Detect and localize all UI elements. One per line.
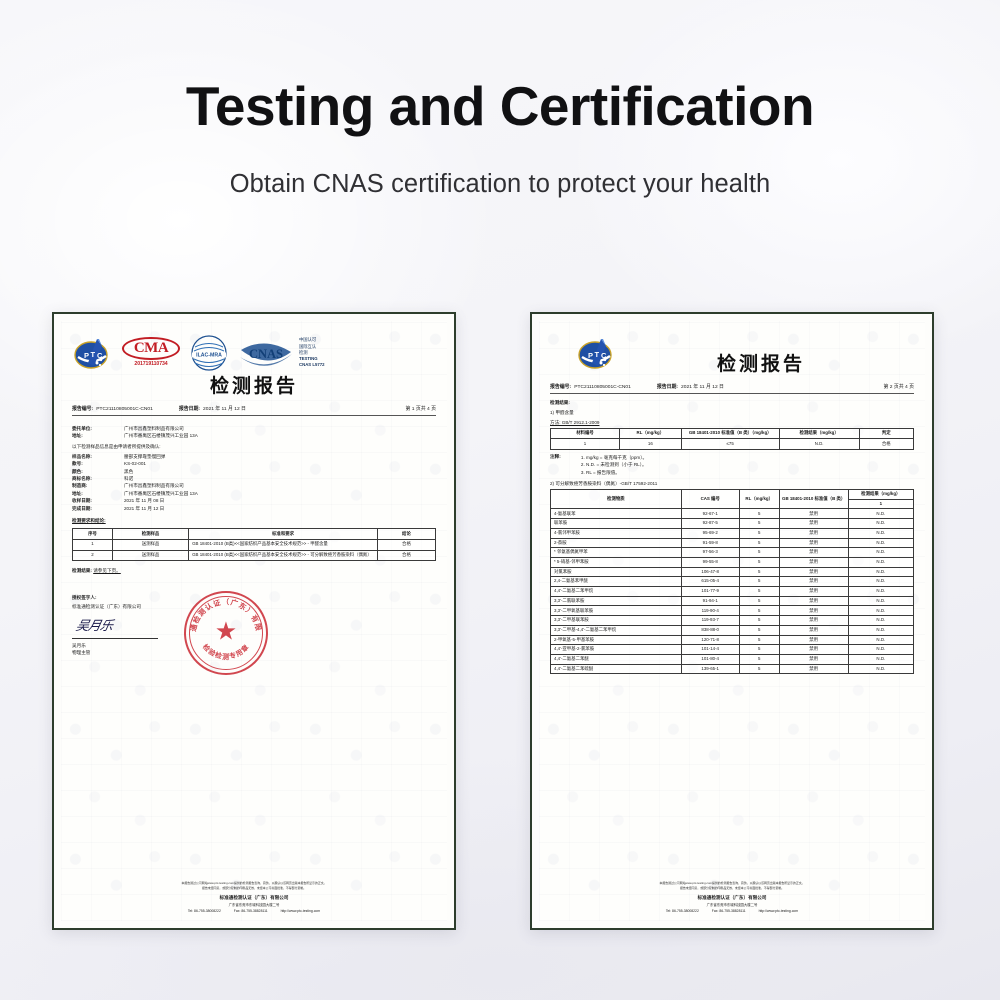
cell-limit: 禁用 bbox=[779, 606, 848, 616]
stamp-star-icon: ★ bbox=[215, 620, 237, 645]
cell-rl: 5 bbox=[739, 625, 779, 635]
footer-web[interactable]: http://www.ptc-testing.com bbox=[281, 909, 321, 913]
results-heading: 检测结果: bbox=[550, 400, 914, 407]
report-meta-row: 报告编号: PTC21110805001C-CN01 报告日期: 2021 年 … bbox=[72, 406, 436, 416]
cell-result: N.D. bbox=[848, 664, 913, 674]
col-conclusion: 结论 bbox=[377, 529, 435, 540]
result-label: 检测结果: bbox=[72, 568, 92, 573]
table-row: 4,4'-亚甲基-2-氯苯胺101-14-45禁用N.D. bbox=[551, 645, 914, 655]
field-address-key: 地址: bbox=[72, 432, 124, 439]
field-address-value: 广州市番禺区石楼镇茂兴工业园 13A bbox=[124, 432, 436, 439]
table-header-row: 检测物质 CAS 编号 RL（mg/kg） GB 18401-2010 标准值（… bbox=[551, 490, 914, 500]
cell-cas: 101-80-4 bbox=[681, 655, 739, 665]
cell-no: 2 bbox=[73, 550, 113, 561]
cma-mark: CMA bbox=[122, 337, 180, 361]
cell-rl: 5 bbox=[739, 616, 779, 626]
cell-result: N.D. bbox=[848, 548, 913, 558]
field-address: 地址: 广州市番禺区石楼镇茂兴工业园 13A bbox=[72, 432, 436, 439]
footer-address: 广东省东莞市东城科技园大楼二号 bbox=[61, 903, 447, 909]
cell-substance: 3,3'-二甲氧基联苯胺 bbox=[551, 606, 682, 616]
table-row: 2-甲氧基-5-甲基苯胺120-71-85禁用N.D. bbox=[551, 635, 914, 645]
cell-cas: 92-67-1 bbox=[681, 509, 739, 519]
cell-cas: 99-55-8 bbox=[681, 557, 739, 567]
cell-result: N.D. bbox=[848, 635, 913, 645]
signature-block: 授权签字人: 标准通检测认证（广东）有限公司 吴月乐 吴月乐 物理主管 标准通检… bbox=[72, 595, 436, 715]
col-sample-index: 1 bbox=[848, 499, 913, 509]
col-no: 序号 bbox=[73, 529, 113, 540]
cell-rl: 5 bbox=[739, 538, 779, 548]
field-sample-name: 样品名称: 腰部支撑靠垫慢回弹 bbox=[72, 453, 436, 460]
cell-limit: 禁用 bbox=[779, 616, 848, 626]
official-red-stamp: 标准通检测认证（广东）有限公司 ★ 检验检测专用章 bbox=[184, 591, 268, 675]
cell-limit: 禁用 bbox=[779, 664, 848, 674]
table-row: * 5-硝基-邻甲苯胺99-55-85禁用N.D. bbox=[551, 557, 914, 567]
cell-limit: 禁用 bbox=[779, 519, 848, 529]
table-header-row: 序号 检测样品 标准和要求 结论 bbox=[73, 529, 436, 540]
cell-result: N.D. bbox=[848, 645, 913, 655]
cma-number: 201719110734 bbox=[122, 361, 180, 369]
field-color: 颜色: 黑色 bbox=[72, 468, 436, 475]
document-title: 检测报告 bbox=[72, 372, 436, 401]
certificate-page-2[interactable]: P T C 检测报告 报告编号: PTC21110805001C-CN01 报告… bbox=[530, 312, 934, 930]
cell-result: N.D. bbox=[848, 606, 913, 616]
cell-conclusion: 合格 bbox=[377, 550, 435, 561]
confirmation-note: 以下检测样品信息是由申请者所提供及确认: bbox=[72, 444, 436, 451]
cell-result: N.D. bbox=[848, 616, 913, 626]
col-judgement: 判定 bbox=[859, 428, 913, 439]
cell-substance: 4,4'-二氨基二苯甲烷 bbox=[551, 587, 682, 597]
section1-method: 方法: GB/T 2912.1-2009 bbox=[550, 420, 914, 427]
field-client-key: 委托单位: bbox=[72, 425, 124, 432]
cell-limit: 禁用 bbox=[779, 635, 848, 645]
table-row: 3,3'-二甲基-4,4'-二氨基二苯甲烷838-88-05禁用N.D. bbox=[551, 625, 914, 635]
cell-limit: 禁用 bbox=[779, 625, 848, 635]
cell-rl: 5 bbox=[739, 596, 779, 606]
field-mfr-address: 地址: 广州市番禺区石楼镇茂兴工业园 13A bbox=[72, 490, 436, 497]
cell-rl: 5 bbox=[739, 664, 779, 674]
azo-dye-table: 检测物质 CAS 编号 RL（mg/kg） GB 18401-2010 标准值（… bbox=[550, 489, 914, 674]
cell-cas: 101-14-4 bbox=[681, 645, 739, 655]
requirements-table: 序号 检测样品 标准和要求 结论 1 送测样品 GB 18401-2010 (B… bbox=[72, 528, 436, 561]
cell-result: N.D. bbox=[848, 655, 913, 665]
col-rl: RL（mg/kg） bbox=[619, 428, 681, 439]
report-no-label: 报告编号: bbox=[72, 406, 93, 413]
table-row: 3,3'-二甲氧基联苯胺119-90-45禁用N.D. bbox=[551, 606, 914, 616]
report-no-label: 报告编号: bbox=[550, 384, 571, 391]
cell-limit: 禁用 bbox=[779, 596, 848, 606]
table-row: 3,3'-二甲基联苯胺119-93-75禁用N.D. bbox=[551, 616, 914, 626]
cma-logo: CMA 201719110734 bbox=[122, 337, 180, 369]
col-standard: 标准和要求 bbox=[189, 529, 378, 540]
cell-substance: 4-氨基联苯 bbox=[551, 509, 682, 519]
col-sample: 检测样品 bbox=[112, 529, 188, 540]
cell-substance: 联苯胺 bbox=[551, 519, 682, 529]
cell-limit: 禁用 bbox=[779, 548, 848, 558]
cell-limit: 禁用 bbox=[779, 655, 848, 665]
svg-text:T: T bbox=[595, 350, 600, 359]
document-title: 检测报告 bbox=[608, 350, 914, 379]
requirements-heading: 检测要求和结论: bbox=[72, 518, 436, 525]
result-summary: 检测结果: 请参见下页。 bbox=[72, 568, 436, 575]
cell-result: N.D. bbox=[848, 567, 913, 577]
cell-rl: 5 bbox=[739, 519, 779, 529]
report-no-value: PTC21110805001C-CN01 bbox=[96, 406, 153, 413]
cell-cas: 101-77-9 bbox=[681, 587, 739, 597]
cell-result: N.D. bbox=[848, 528, 913, 538]
svg-text:C: C bbox=[601, 351, 607, 360]
cell-material-no: 1 bbox=[551, 439, 620, 450]
cell-result: N.D. bbox=[848, 557, 913, 567]
page-subtitle: Obtain CNAS certification to protect you… bbox=[0, 170, 1000, 199]
page-number-label: 第 2 页共 4 页 bbox=[884, 384, 914, 391]
svg-text:C: C bbox=[97, 351, 103, 360]
section2-title: 2) 可分解致癌芳香胺染料（偶氮）-GB/T 17592-2011 bbox=[550, 481, 914, 488]
cell-substance: * 邻氨基偶氮甲苯 bbox=[551, 548, 682, 558]
cell-rl: 5 bbox=[739, 587, 779, 597]
footer-web[interactable]: http://www.ptc-testing.com bbox=[759, 909, 799, 913]
cell-substance: 对氯苯胺 bbox=[551, 567, 682, 577]
notes-block: 注释: mg/kg = 毫克每千克（ppm）。 N.D. = 未检测到（小于 R… bbox=[550, 454, 914, 476]
footer-disclaimer-2: 报告未经同意，或部分复制的印刷品无效，未经本公司书面批准，不得部分复制。 bbox=[539, 886, 925, 891]
page-title: Testing and Certification bbox=[0, 78, 1000, 136]
field-received-date: 收样日期: 2021 年 11 月 08 日 bbox=[72, 497, 436, 504]
svg-text:P: P bbox=[588, 351, 593, 360]
cell-cas: 119-93-7 bbox=[681, 616, 739, 626]
cell-no: 1 bbox=[73, 539, 113, 550]
notes-label: 注释: bbox=[550, 454, 576, 476]
table-row: 1 送测样品 GB 18401-2010 (B类)<<国家纺织产品基本安全技术规… bbox=[73, 539, 436, 550]
field-client-value: 广州市昌鑫塑料制品有限公司 bbox=[124, 425, 436, 432]
footer-contact: Tel: 86-755-38008222 Fax: 86-755-3882811… bbox=[539, 909, 925, 915]
cell-substance: 2-萘胺 bbox=[551, 538, 682, 548]
cell-rl: 5 bbox=[739, 655, 779, 665]
table-row: 3,3'-二氯联苯胺91-94-15禁用N.D. bbox=[551, 596, 914, 606]
footer-fax: Fax: 86-755-38828111 bbox=[234, 909, 268, 913]
cell-limit: 禁用 bbox=[779, 587, 848, 597]
report-meta-row: 报告编号: PTC21110805001C-CN01 报告日期: 2021 年 … bbox=[550, 384, 914, 394]
field-style-no: 款号: KS-02-001 bbox=[72, 460, 436, 467]
cell-rl: 5 bbox=[739, 577, 779, 587]
svg-text:检验检测专用章: 检验检测专用章 bbox=[201, 642, 251, 661]
note-item: mg/kg = 毫克每千克（ppm）。 bbox=[586, 454, 647, 461]
cell-substance: 3,3'-二氯联苯胺 bbox=[551, 596, 682, 606]
page-number-label: 第 1 页共 4 页 bbox=[406, 406, 436, 413]
hero-section: Testing and Certification Obtain CNAS ce… bbox=[0, 78, 1000, 199]
cnas-mark: CNAS bbox=[238, 336, 294, 370]
cell-limit: 禁用 bbox=[779, 577, 848, 587]
stamp-bottom-arc: 检验检测专用章 bbox=[186, 593, 266, 673]
cell-rl: 5 bbox=[739, 635, 779, 645]
field-brand: 商标名称: 科诺 bbox=[72, 475, 436, 482]
signature-rule bbox=[72, 638, 158, 639]
col-rl: RL（mg/kg） bbox=[739, 490, 779, 509]
table-row: 4-氯邻甲苯胺95-69-25禁用N.D. bbox=[551, 528, 914, 538]
footer-fax: Fax: 86-755-38828111 bbox=[712, 909, 746, 913]
field-manufacturer-value: 广州市昌鑫塑料制品有限公司 bbox=[124, 482, 436, 489]
cell-standard: GB 18401-2010 (B类)<<国家纺织产品基本安全技术规范>> - 可… bbox=[189, 550, 378, 561]
field-received-date-key: 收样日期: bbox=[72, 497, 124, 504]
table-row: 4,4'-二氨基二苯醚101-80-45禁用N.D. bbox=[551, 655, 914, 665]
table-row: 4,4'-二氨基二苯甲烷101-77-95禁用N.D. bbox=[551, 587, 914, 597]
table-row: 2,4-二氨基苯甲醚615-05-45禁用N.D. bbox=[551, 577, 914, 587]
cell-result: N.D. bbox=[848, 625, 913, 635]
cell-cas: 615-05-4 bbox=[681, 577, 739, 587]
cell-rl: 16 bbox=[619, 439, 681, 450]
cell-rl: 5 bbox=[739, 548, 779, 558]
field-received-date-value: 2021 年 11 月 08 日 bbox=[124, 497, 436, 504]
cell-result: N.D. bbox=[848, 587, 913, 597]
field-color-value: 黑色 bbox=[124, 468, 436, 475]
certificate-footer: 本报告通过公司网站www.ptc-testing.com提供的检测报告查询，真伪… bbox=[539, 881, 925, 915]
table-row: 1 16 ≤75 N.D. 合格 bbox=[551, 439, 914, 450]
footer-company: 标准通检测认证（广东）有限公司 bbox=[539, 894, 925, 902]
cell-cas: 120-71-8 bbox=[681, 635, 739, 645]
note-item: N.D. = 未检测到（小于 RL）。 bbox=[586, 461, 647, 468]
field-client: 委托单位: 广州市昌鑫塑料制品有限公司 bbox=[72, 425, 436, 432]
cell-result: N.D. bbox=[779, 439, 859, 450]
cell-cas: 139-65-1 bbox=[681, 664, 739, 674]
svg-text:T: T bbox=[91, 350, 96, 359]
field-completed-date: 完成日期: 2021 年 11 月 12 日 bbox=[72, 505, 436, 512]
cnas-line-4: CNAS L5772 bbox=[299, 362, 325, 367]
field-mfr-address-key: 地址: bbox=[72, 490, 124, 497]
accreditation-logo-row: P T C CMA 201719110734 bbox=[72, 330, 436, 376]
col-limit: GB 18401-2010 标准值（B 类）（mg/kg） bbox=[681, 428, 779, 439]
cell-limit: 禁用 bbox=[779, 567, 848, 577]
section1-title: 1) 甲醛含量 bbox=[550, 410, 914, 417]
cell-rl: 5 bbox=[739, 645, 779, 655]
field-color-key: 颜色: bbox=[72, 468, 124, 475]
footer-address: 广东省东莞市东城科技园大楼二号 bbox=[539, 903, 925, 909]
certificate-page-1[interactable]: P T C CMA 201719110734 bbox=[52, 312, 456, 930]
ptc-logo: P T C bbox=[72, 333, 112, 373]
field-sample-name-value: 腰部支撑靠垫慢回弹 bbox=[124, 453, 436, 460]
cell-conclusion: 合格 bbox=[377, 539, 435, 550]
svg-text:CNAS: CNAS bbox=[249, 347, 283, 361]
cell-result: N.D. bbox=[848, 577, 913, 587]
cell-limit: 禁用 bbox=[779, 528, 848, 538]
cell-rl: 5 bbox=[739, 557, 779, 567]
report-date-value: 2021 年 11 月 12 日 bbox=[203, 406, 246, 413]
cell-standard: GB 18401-2010 (B类)<<国家纺织产品基本安全技术规范>> - 甲… bbox=[189, 539, 378, 550]
field-manufacturer-key: 制造商: bbox=[72, 482, 124, 489]
certificates-container: P T C CMA 201719110734 bbox=[0, 312, 1000, 932]
cell-result: N.D. bbox=[848, 538, 913, 548]
cell-substance: 3,3'-二甲基-4,4'-二氨基二苯甲烷 bbox=[551, 625, 682, 635]
cell-cas: 92-87-5 bbox=[681, 519, 739, 529]
cell-cas: 91-59-8 bbox=[681, 538, 739, 548]
field-style-no-key: 款号: bbox=[72, 460, 124, 467]
table-row: 2 送测样品 GB 18401-2010 (B类)<<国家纺织产品基本安全技术规… bbox=[73, 550, 436, 561]
field-style-no-value: KS-02-001 bbox=[124, 460, 436, 467]
cnas-line-3: TESTING bbox=[299, 356, 318, 361]
cell-cas: 119-90-4 bbox=[681, 606, 739, 616]
cell-cas: 97-56-3 bbox=[681, 548, 739, 558]
cell-substance: 4,4'-二氨基二苯醚 bbox=[551, 655, 682, 665]
cell-limit: 禁用 bbox=[779, 509, 848, 519]
cell-result: N.D. bbox=[848, 596, 913, 606]
footer-contact: Tel: 86-755-38008222 Fax: 86-755-3882811… bbox=[61, 909, 447, 915]
field-brand-value: 科诺 bbox=[124, 475, 436, 482]
cell-cas: 95-69-2 bbox=[681, 528, 739, 538]
cell-sample: 送测样品 bbox=[112, 539, 188, 550]
cell-rl: 5 bbox=[739, 528, 779, 538]
field-completed-date-key: 完成日期: bbox=[72, 505, 124, 512]
certificate-footer: 本报告通过公司网站www.ptc-testing.com提供的检测报告查询，真伪… bbox=[61, 881, 447, 915]
cell-limit: 禁用 bbox=[779, 645, 848, 655]
table-header-row: 材料编号 RL（mg/kg） GB 18401-2010 标准值（B 类）（mg… bbox=[551, 428, 914, 439]
table-row: 对氯苯胺106-47-85禁用N.D. bbox=[551, 567, 914, 577]
col-cas: CAS 编号 bbox=[681, 490, 739, 509]
note-item: RL = 报告限值。 bbox=[586, 469, 647, 476]
cell-substance: 4-氯邻甲苯胺 bbox=[551, 528, 682, 538]
cell-judgement: 合格 bbox=[859, 439, 913, 450]
col-substance: 检测物质 bbox=[551, 490, 682, 509]
svg-text:ILAC-MRA: ILAC-MRA bbox=[196, 353, 222, 359]
footer-company: 标准通检测认证（广东）有限公司 bbox=[61, 894, 447, 902]
table-row: 4,4'-二氨基二苯硫醚139-65-15禁用N.D. bbox=[551, 664, 914, 674]
cell-substance: 4,4'-二氨基二苯硫醚 bbox=[551, 664, 682, 674]
ilac-mra-logo: ILAC-MRA bbox=[190, 334, 228, 372]
field-mfr-address-value: 广州市番禺区石楼镇茂兴工业园 13A bbox=[124, 490, 436, 497]
formaldehyde-table: 材料编号 RL（mg/kg） GB 18401-2010 标准值（B 类）（mg… bbox=[550, 428, 914, 451]
cell-substance: 2-甲氧基-5-甲基苯胺 bbox=[551, 635, 682, 645]
report-date-label: 报告日期: bbox=[179, 406, 200, 413]
svg-text:P: P bbox=[84, 351, 89, 360]
col-material-no: 材料编号 bbox=[551, 428, 620, 439]
table-row: 2-萘胺91-59-85禁用N.D. bbox=[551, 538, 914, 548]
footer-tel: Tel: 86-755-38008222 bbox=[666, 909, 699, 913]
field-sample-name-key: 样品名称: bbox=[72, 453, 124, 460]
cnas-text-block: 中国认可 国际互认 检测 TESTING CNAS L5772 bbox=[299, 337, 325, 368]
cell-substance: 2,4-二氨基苯甲醚 bbox=[551, 577, 682, 587]
cell-limit: ≤75 bbox=[681, 439, 779, 450]
cell-rl: 5 bbox=[739, 606, 779, 616]
cell-cas: 838-88-0 bbox=[681, 625, 739, 635]
report-no-value: PTC21110805001C-CN01 bbox=[574, 384, 631, 391]
azo-rows: 4-氨基联苯92-67-15禁用N.D. 联苯胺92-87-55禁用N.D. 4… bbox=[551, 509, 914, 674]
cell-substance: 4,4'-亚甲基-2-氯苯胺 bbox=[551, 645, 682, 655]
footer-disclaimer-2: 报告未经同意，或部分复制的印刷品无效，未经本公司书面批准，不得部分复制。 bbox=[61, 886, 447, 891]
cnas-logo: CNAS 中国认可 国际互认 检测 TESTING CNAS L5772 bbox=[238, 336, 325, 370]
footer-tel: Tel: 86-755-38008222 bbox=[188, 909, 221, 913]
cell-result: N.D. bbox=[848, 519, 913, 529]
result-value: 请参见下页。 bbox=[93, 568, 121, 573]
col-result: 检测结果（mg/kg） bbox=[779, 428, 859, 439]
field-brand-key: 商标名称: bbox=[72, 475, 124, 482]
field-manufacturer: 制造商: 广州市昌鑫塑料制品有限公司 bbox=[72, 482, 436, 489]
col-result: 检测结果（mg/kg） bbox=[848, 490, 913, 500]
cell-cas: 106-47-8 bbox=[681, 567, 739, 577]
cell-cas: 91-94-1 bbox=[681, 596, 739, 606]
cell-sample: 送测样品 bbox=[112, 550, 188, 561]
page-root: Testing and Certification Obtain CNAS ce… bbox=[0, 0, 1000, 1000]
cell-limit: 禁用 bbox=[779, 538, 848, 548]
cell-rl: 5 bbox=[739, 509, 779, 519]
cell-rl: 5 bbox=[739, 567, 779, 577]
table-row: 联苯胺92-87-55禁用N.D. bbox=[551, 519, 914, 529]
cell-substance: * 5-硝基-邻甲苯胺 bbox=[551, 557, 682, 567]
report-date-value: 2021 年 11 月 12 日 bbox=[681, 384, 724, 391]
table-row: * 邻氨基偶氮甲苯97-56-35禁用N.D. bbox=[551, 548, 914, 558]
cell-limit: 禁用 bbox=[779, 557, 848, 567]
report-date-label: 报告日期: bbox=[657, 384, 678, 391]
cell-result: N.D. bbox=[848, 509, 913, 519]
cell-substance: 3,3'-二甲基联苯胺 bbox=[551, 616, 682, 626]
field-completed-date-value: 2021 年 11 月 12 日 bbox=[124, 505, 436, 512]
table-row: 4-氨基联苯92-67-15禁用N.D. bbox=[551, 509, 914, 519]
col-limit: GB 18401-2010 标准值（B 类） bbox=[779, 490, 848, 509]
